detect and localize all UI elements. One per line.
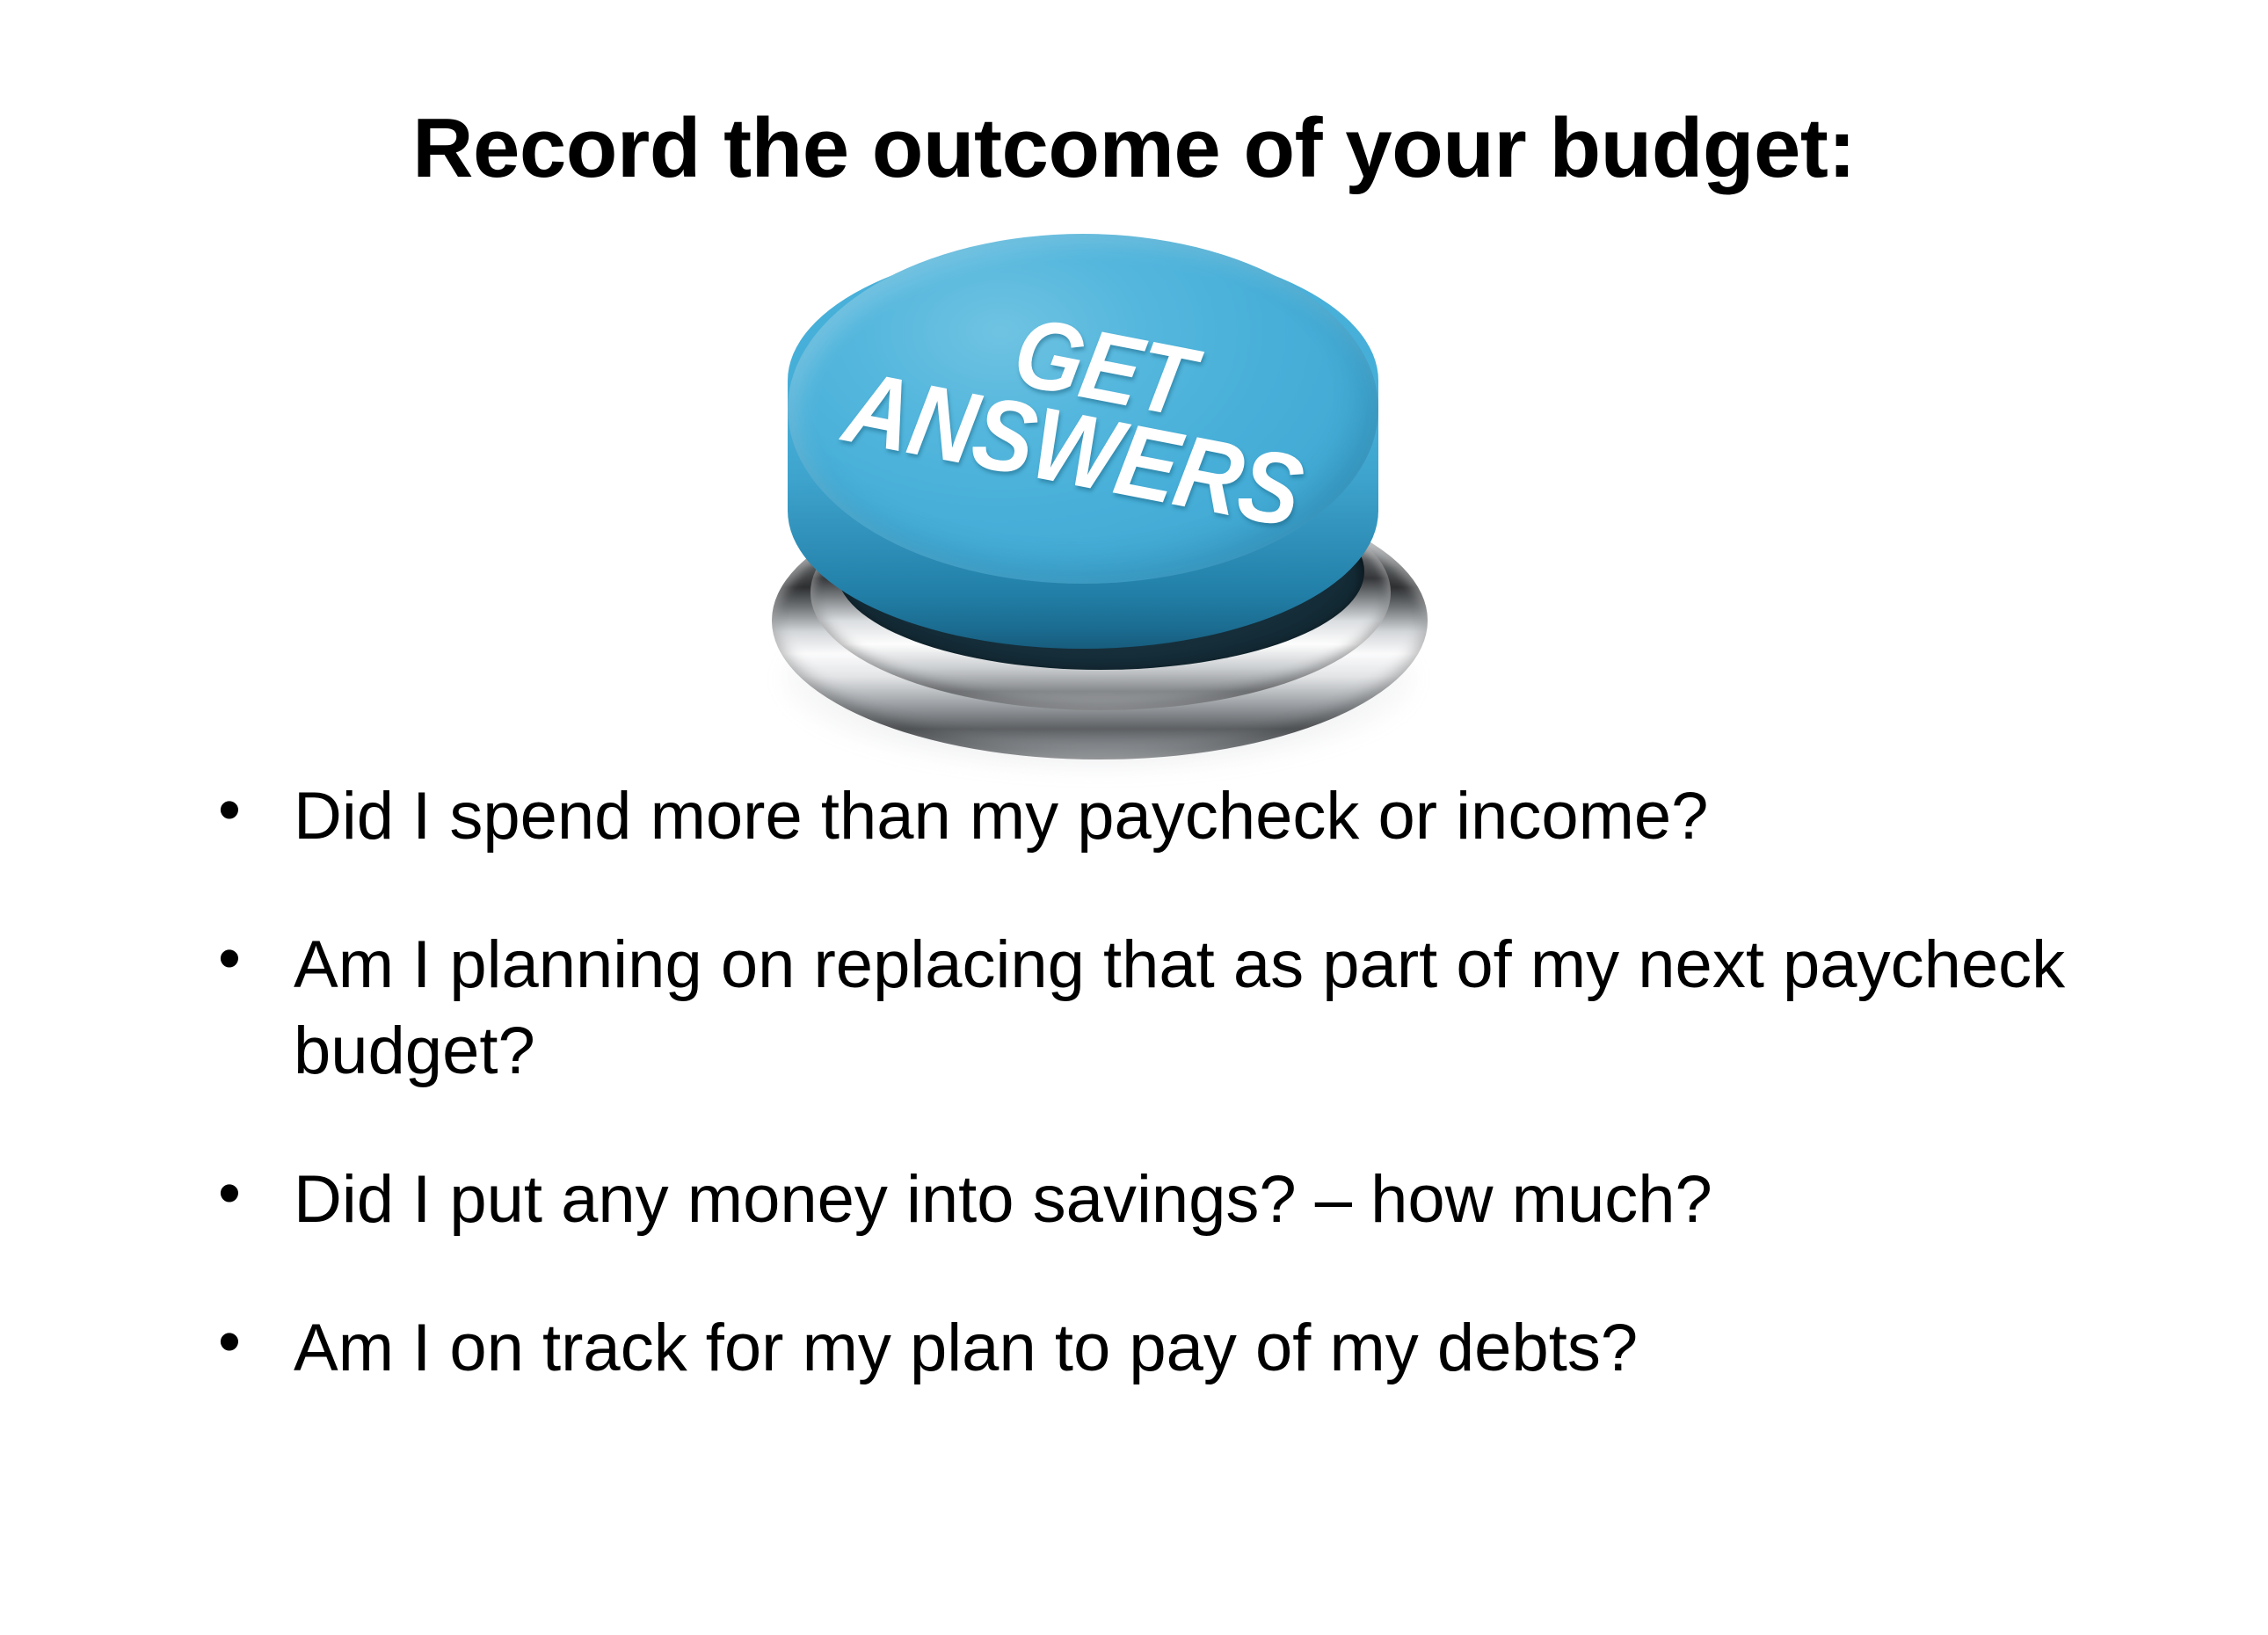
list-item: • Am I on track for my plan to pay of my… xyxy=(211,1305,2145,1391)
list-item: • Did I put any money into savings? – ho… xyxy=(211,1157,2145,1242)
list-item-label: Did I put any money into savings? – how … xyxy=(294,1157,2131,1242)
list-item-label: Am I on track for my plan to pay of my d… xyxy=(294,1305,2131,1391)
bullet-marker-icon: • xyxy=(211,922,294,995)
bullet-marker-icon: • xyxy=(211,1157,294,1230)
button-cap-top xyxy=(788,234,1378,584)
get-answers-button-image: GET ANSWERS xyxy=(756,218,1450,772)
bullet-marker-icon: • xyxy=(211,1305,294,1378)
page-title: Record the outcome of your budget: xyxy=(0,102,2268,195)
list-item-label: Am I planning on replacing that as part … xyxy=(294,922,2131,1094)
list-item: • Did I spend more than my paycheck or i… xyxy=(211,774,2145,859)
outcome-questions-list: • Did I spend more than my paycheck or i… xyxy=(211,774,2145,1454)
bullet-marker-icon: • xyxy=(211,774,294,847)
list-item: • Am I planning on replacing that as par… xyxy=(211,922,2145,1094)
slide-canvas: Record the outcome of your budget: GET A… xyxy=(0,0,2268,1635)
list-item-label: Did I spend more than my paycheck or inc… xyxy=(294,774,2131,859)
